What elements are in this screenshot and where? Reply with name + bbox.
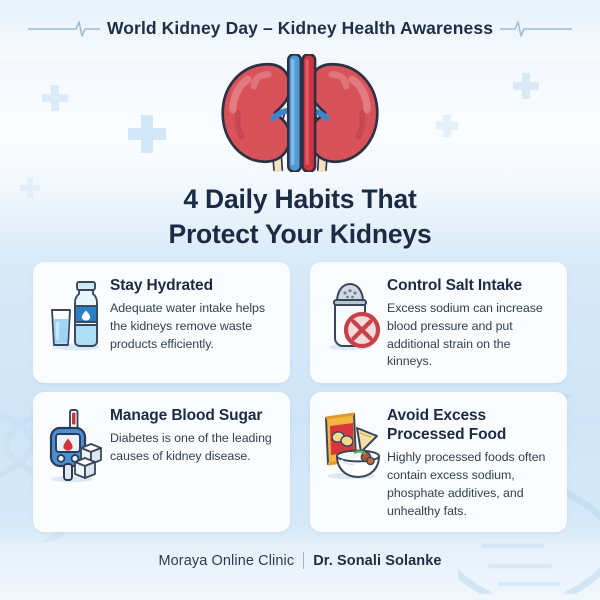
footer-divider [303,552,304,569]
habit-card-text: Excess sodium can increase blood pressur… [387,300,555,371]
processed-food-snacks-icon [321,404,383,482]
glucometer-and-sugar-cubes-icon [44,404,106,482]
medical-cross-watermark [513,73,539,99]
medical-cross-watermark [128,115,166,153]
habit-card-manage-blood-sugar[interactable]: Manage Blood Sugar Diabetes is one of th… [33,392,290,532]
page-title: 4 Daily Habits That Protect Your Kidneys [0,182,600,252]
medical-cross-watermark [42,85,68,111]
habit-card-control-salt-intake[interactable]: Control Salt Intake Excess sodium can in… [310,262,567,383]
header-title: World Kidney Day – Kidney Health Awarene… [107,18,493,39]
footer-clinic-name: Moraya Online Clinic [158,553,294,569]
page-title-line-1: 4 Daily Habits That [0,182,600,217]
header: World Kidney Day – Kidney Health Awarene… [0,18,600,39]
habit-card-title: Stay Hydrated [110,276,278,295]
habit-card-title: Manage Blood Sugar [110,406,278,425]
habits-grid: Stay Hydrated Adequate water intake help… [33,262,567,532]
footer-doctor-name: Dr. Sonali Solanke [313,553,441,569]
ecg-line-icon [500,19,572,39]
salt-shaker-prohibited-icon [321,274,383,352]
kidneys-anatomy-icon [216,54,384,172]
ecg-line-icon [28,19,100,39]
habit-card-title: Control Salt Intake [387,276,555,295]
habit-card-stay-hydrated[interactable]: Stay Hydrated Adequate water intake help… [33,262,290,383]
medical-cross-watermark [436,115,458,137]
habit-card-text: Highly processed foods often contain exc… [387,449,555,520]
page-title-line-2: Protect Your Kidneys [0,217,600,252]
habit-card-text: Diabetes is one of the leading causes of… [110,430,278,465]
footer-band [0,538,600,600]
footer: Moraya Online Clinic Dr. Sonali Solanke [0,552,600,569]
habit-card-title: Avoid Excess Processed Food [387,406,555,444]
infographic-poster: World Kidney Day – Kidney Health Awarene… [0,0,600,600]
habit-card-text: Adequate water intake helps the kidneys … [110,300,278,353]
water-bottle-and-glass-icon [44,274,106,352]
habit-card-avoid-processed-food[interactable]: Avoid Excess Processed Food Highly proce… [310,392,567,532]
